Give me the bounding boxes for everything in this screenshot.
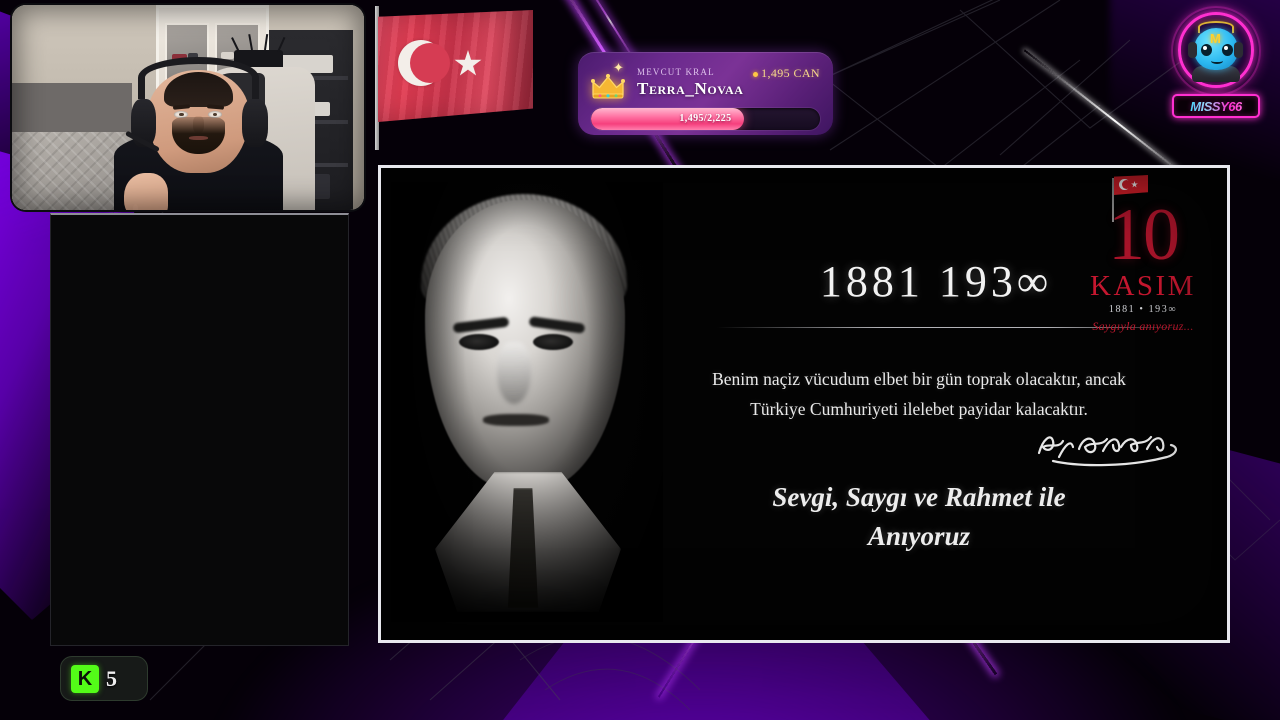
memorial-closing: Sevgi, Saygı ve Rahmet ile Anıyoruz bbox=[669, 478, 1169, 556]
coin-icon bbox=[753, 72, 758, 77]
mascot-letter: M bbox=[1210, 32, 1221, 45]
crown-icon bbox=[591, 73, 625, 99]
stream-canvas: K 5 ✦ bbox=[0, 0, 1280, 720]
emblem-month: KASIM bbox=[1073, 272, 1213, 301]
current-king-banner[interactable]: ✦ MEVCUT KRAL Terra_Novaa 1,495 CAN bbox=[578, 52, 833, 135]
kick-logo-icon: K bbox=[71, 665, 99, 693]
crescent-icon bbox=[398, 40, 444, 86]
brand-nameplate: MISSY66 bbox=[1172, 94, 1260, 118]
memorial-quote: Benim naçiz vücudum elbet bir gün toprak… bbox=[629, 364, 1209, 424]
webcam-feed[interactable] bbox=[12, 5, 364, 210]
webcam-room-scene bbox=[12, 5, 364, 210]
king-coin-value: 1,495 CAN bbox=[761, 66, 820, 80]
streamer-avatar bbox=[114, 54, 283, 210]
emblem-years: 1881 • 193∞ bbox=[1073, 305, 1213, 315]
king-progress-bar: 1,495/2,225 bbox=[591, 108, 820, 130]
king-username: Terra_Novaa bbox=[637, 80, 744, 97]
quote-line-1: Benim naçiz vücudum elbet bir gün toprak… bbox=[712, 369, 1126, 389]
quote-line-2: Türkiye Cumhuriyeti ilelebet payidar kal… bbox=[750, 399, 1088, 419]
turkish-flag bbox=[372, 0, 538, 150]
emblem-day: 10 bbox=[1073, 198, 1213, 272]
ataturk-portrait bbox=[401, 192, 653, 612]
chat-overlay-panel[interactable] bbox=[50, 213, 349, 646]
king-label: MEVCUT KRAL bbox=[637, 68, 744, 77]
ataturk-signature bbox=[1029, 423, 1187, 467]
headphones-icon bbox=[138, 57, 260, 99]
channel-brand-logo[interactable]: M MISSY66 bbox=[1166, 12, 1266, 120]
viewer-count-badge: K 5 bbox=[60, 656, 148, 701]
brand-name: MISSY66 bbox=[1190, 100, 1241, 113]
king-coin-amount: 1,495 CAN bbox=[753, 67, 820, 79]
emblem-motto: Saygıyla anıyoruz... bbox=[1073, 320, 1213, 332]
main-video-frame[interactable]: 1881 193∞ Benim naçiz vücudum elbet bir … bbox=[378, 165, 1230, 643]
viewer-count: 5 bbox=[106, 668, 117, 690]
memorial-dates: 1881 193∞ bbox=[791, 260, 1081, 304]
closing-line-2: Anıyoruz bbox=[868, 521, 970, 551]
closing-line-1: Sevgi, Saygı ve Rahmet ile bbox=[772, 482, 1065, 512]
ten-kasim-emblem: 10 KASIM 1881 • 193∞ Saygıyla anıyoruz..… bbox=[1073, 172, 1213, 337]
king-progress-label: 1,495/2,225 bbox=[591, 108, 820, 130]
